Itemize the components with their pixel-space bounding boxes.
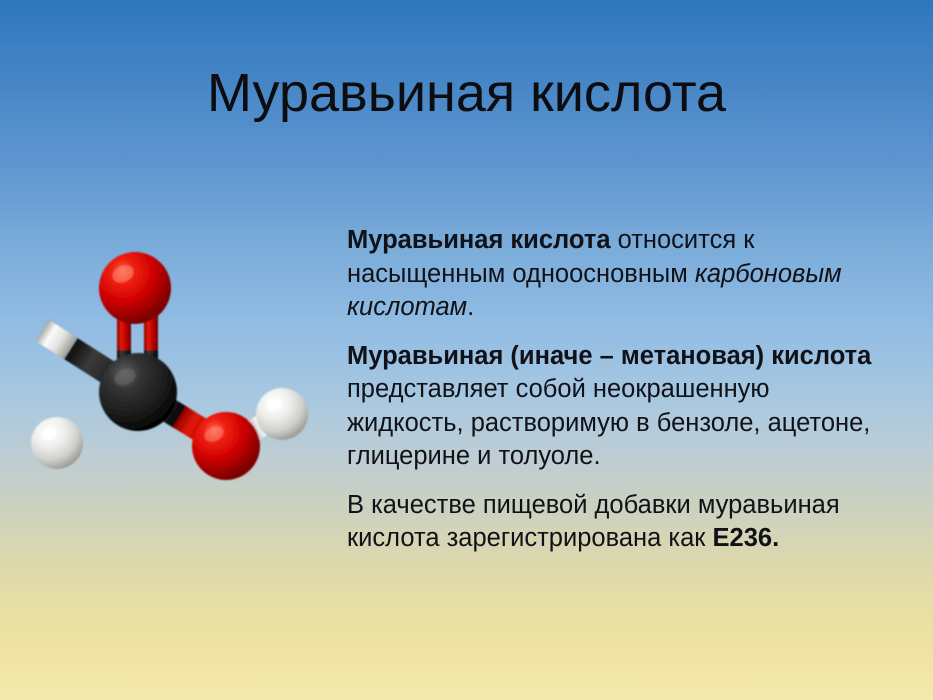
atom-hydrogen-on-carbon (31, 417, 83, 469)
body-paragraph-1: Муравьиная кислота относится к насыщенны… (347, 224, 892, 325)
atom-carbon-central (99, 353, 177, 431)
p3-run-2: E236. (713, 524, 780, 552)
atom-oxygen-hydroxyl (192, 412, 260, 480)
presentation-slide: Муравьиная кислота Муравьиная кислота от… (0, 0, 933, 700)
atom-hydrogen-on-oxygen (256, 388, 308, 440)
formic-acid-molecule-image (0, 236, 330, 506)
body-paragraph-2: Муравьиная (иначе – метановая) кислота п… (347, 340, 892, 474)
p1-run-1: Муравьиная кислота (347, 226, 611, 254)
p2-run-2: представляет собой неокрашенную жидкость… (347, 375, 870, 470)
p2-run-1: Муравьиная (иначе – метановая) кислота (347, 342, 871, 370)
body-paragraph-3: В качестве пищевой добавки муравьиная ки… (347, 489, 892, 556)
slide-body-text: Муравьиная кислота относится к насыщенны… (347, 224, 892, 556)
atom-oxygen-carbonyl (99, 252, 171, 324)
p1-run-4: . (467, 293, 474, 321)
slide-title: Муравьиная кислота (0, 62, 933, 124)
